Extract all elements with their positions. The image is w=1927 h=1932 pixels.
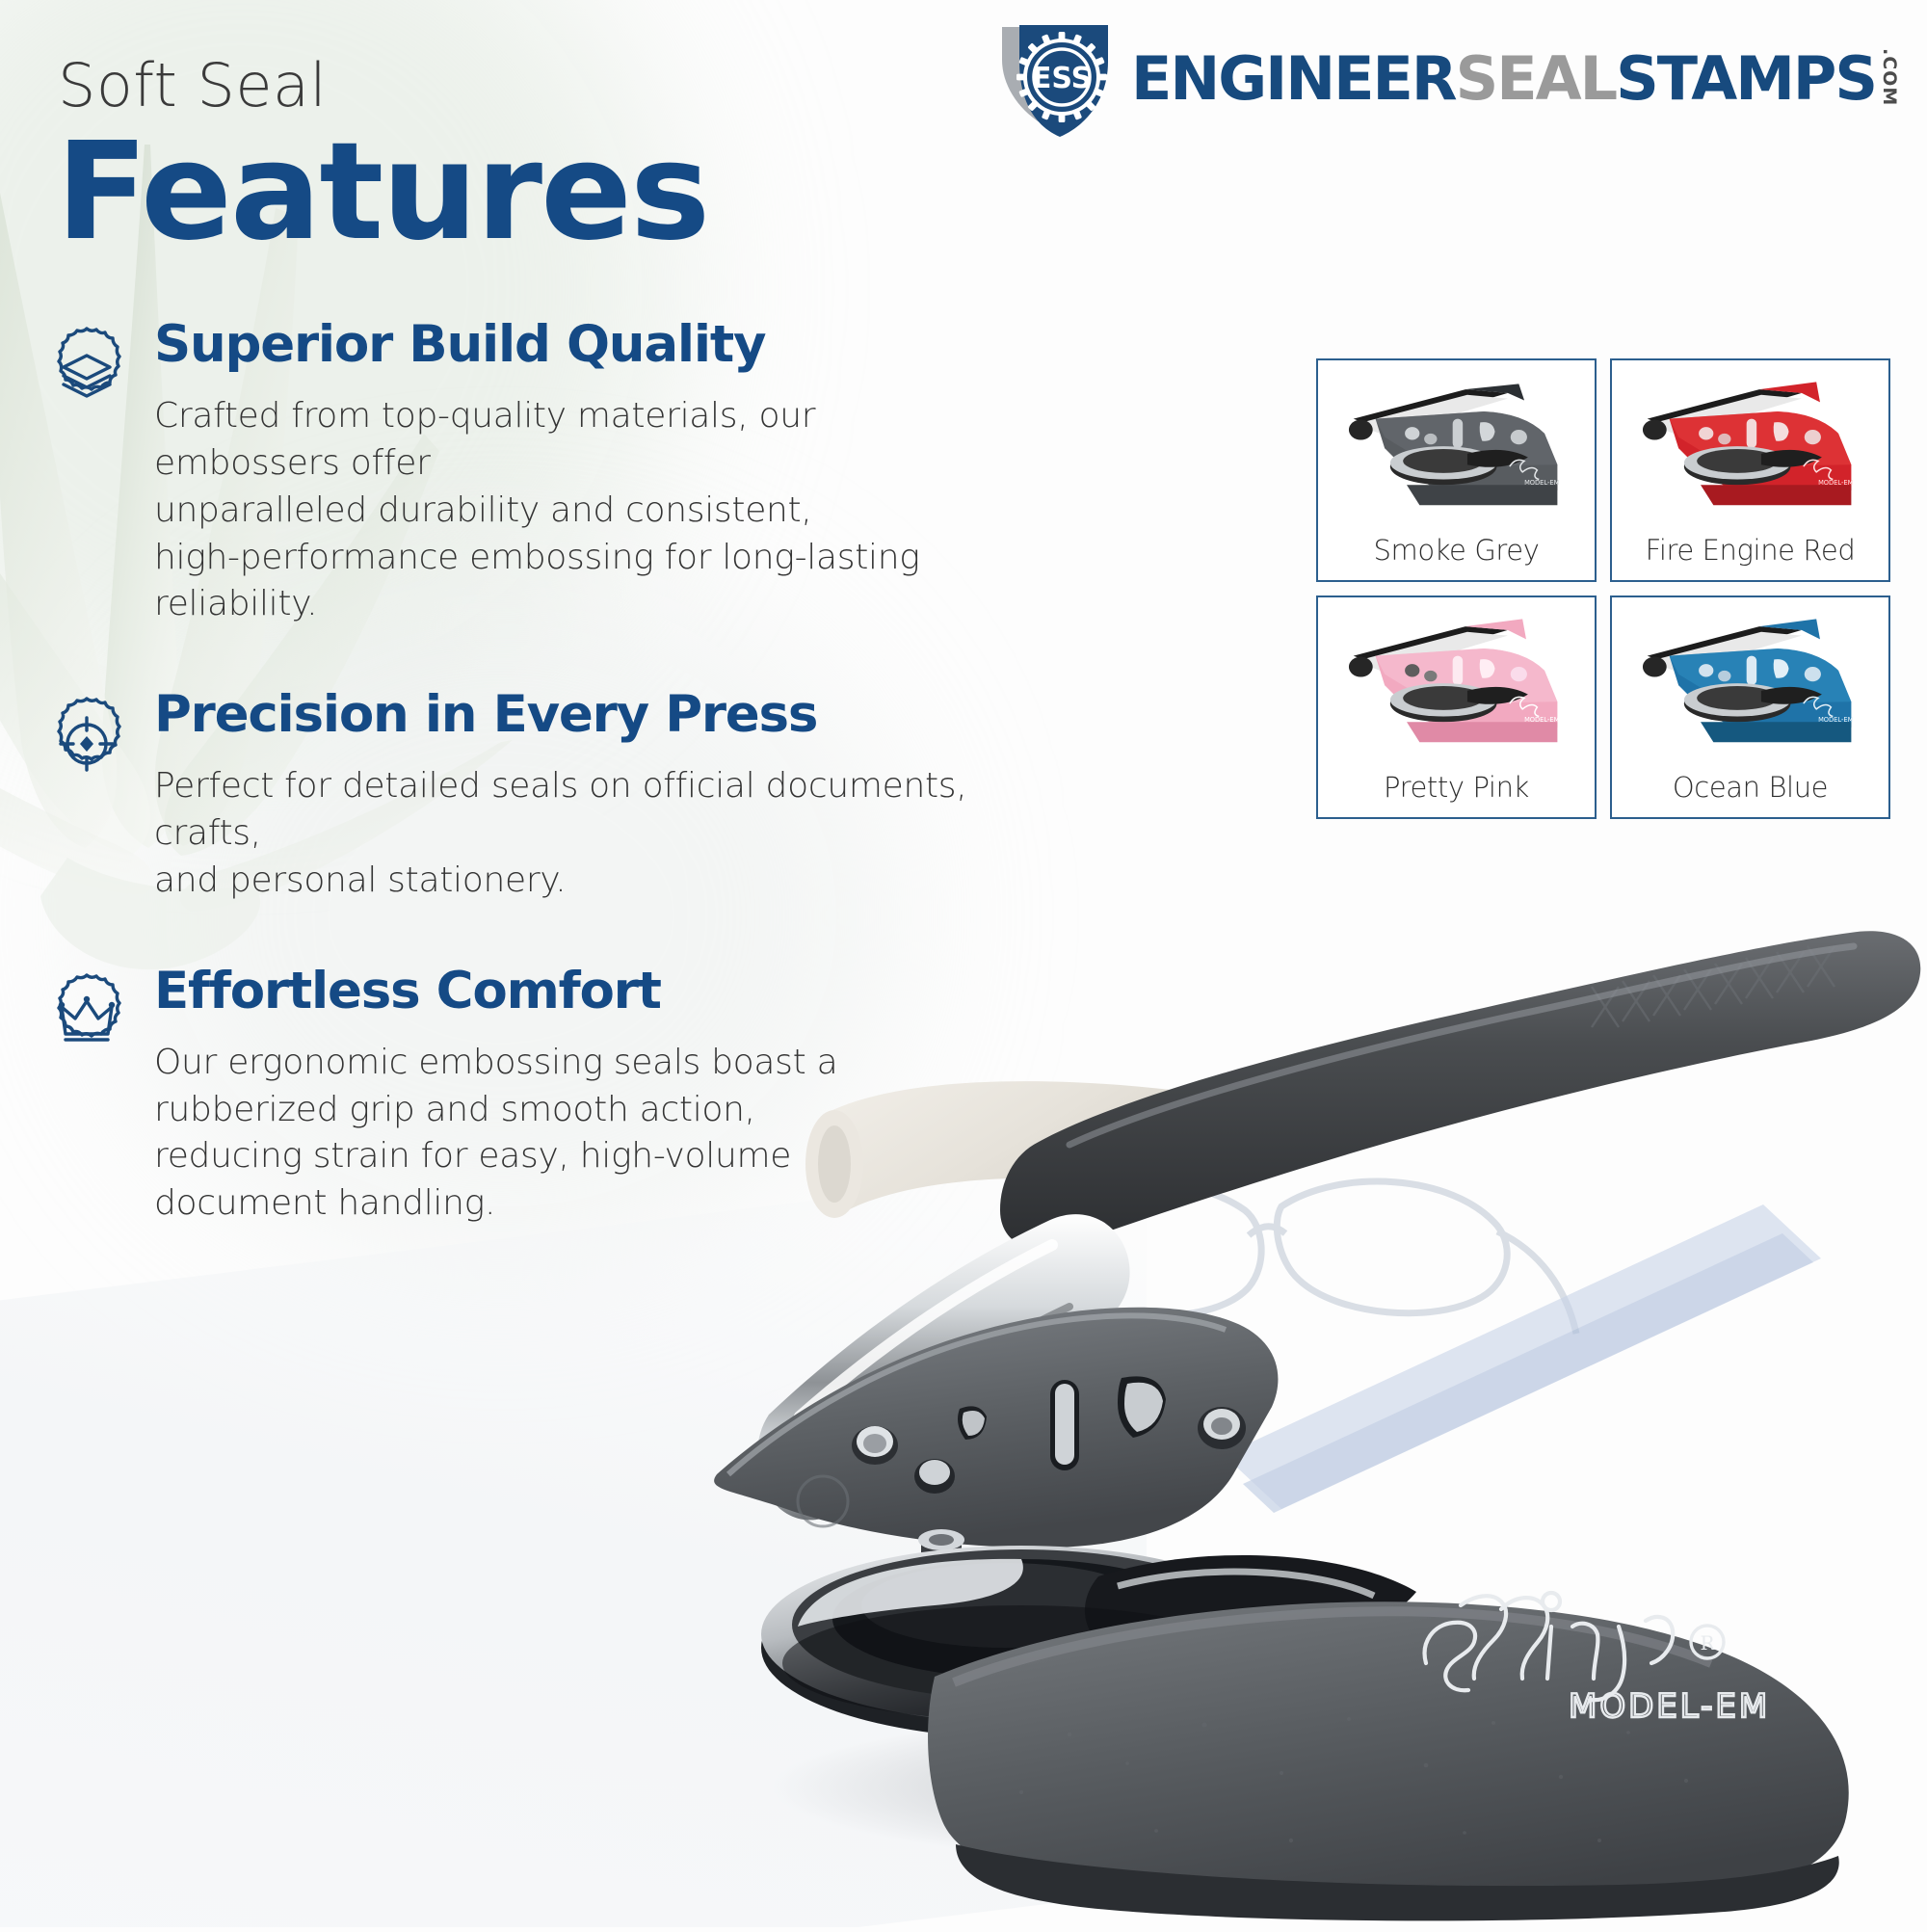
- svg-text:MODEL-EM: MODEL-EM: [1524, 479, 1560, 487]
- swatch-fire-engine-red[interactable]: MODEL-EM Fire Engine Red: [1610, 358, 1890, 582]
- page-header: Soft Seal Features: [0, 0, 1927, 289]
- feature-body: Perfect for detailed seals on official d…: [154, 763, 1002, 905]
- svg-text:R: R: [1700, 1631, 1715, 1654]
- embosser-photo-ocean-blue: MODEL-EM: [1622, 607, 1879, 767]
- logo-dotcom-suffix: .COM: [1879, 48, 1900, 110]
- ess-gear-badge-icon: ESS: [994, 17, 1118, 141]
- swatch-pretty-pink[interactable]: MODEL-EM Pretty Pink: [1316, 595, 1597, 819]
- embosser-photo-smoke-grey: MODEL-EM: [1328, 370, 1585, 530]
- feature-body: Crafted from top-quality materials, our …: [154, 393, 1002, 629]
- svg-text:MODEL-EM: MODEL-EM: [1818, 479, 1854, 487]
- embosser-upper-arm: [714, 1308, 1278, 1548]
- swatch-smoke-grey[interactable]: MODEL-EM Smoke Grey: [1316, 358, 1597, 582]
- page-kicker: Soft Seal: [58, 50, 327, 120]
- color-variant-grid: MODEL-EM Smoke Grey: [1316, 358, 1890, 819]
- brand-logo-wordmark: ENGINEER SEAL STAMPS .COM: [1131, 48, 1900, 110]
- svg-text:MODEL-EM: MODEL-EM: [1524, 716, 1560, 724]
- brand-logo[interactable]: ESS ENGINEER SEAL STAMPS .COM: [994, 17, 1900, 141]
- swatch-label: Pretty Pink: [1328, 767, 1585, 811]
- page-title: Features: [56, 125, 708, 260]
- embosser-photo-pretty-pink: MODEL-EM: [1328, 607, 1585, 767]
- logo-word-engineer: ENGINEER: [1131, 49, 1456, 109]
- swatch-label: Smoke Grey: [1328, 530, 1585, 574]
- feature-body: Our ergonomic embossing seals boast a ru…: [154, 1040, 1002, 1229]
- embosser-photo-fire-engine-red: MODEL-EM: [1622, 370, 1879, 530]
- feature-item-precision: Precision in Every Press Perfect for det…: [0, 688, 1041, 905]
- svg-text:MODEL-EM: MODEL-EM: [1569, 1687, 1770, 1726]
- feature-title: Effortless Comfort: [154, 965, 1041, 1019]
- logo-word-seal: SEAL: [1456, 49, 1617, 109]
- target-badge-icon: [37, 694, 137, 794]
- svg-text:ESS: ESS: [1032, 62, 1092, 95]
- swatch-ocean-blue[interactable]: MODEL-EM Ocean Blue: [1610, 595, 1890, 819]
- crown-badge-icon: [37, 970, 137, 1071]
- svg-text:MODEL-EM: MODEL-EM: [1818, 716, 1854, 724]
- swatch-label: Fire Engine Red: [1622, 530, 1879, 574]
- feature-list: Superior Build Quality Crafted from top-…: [0, 318, 1041, 1287]
- layers-badge-icon: [37, 324, 137, 424]
- feature-item-comfort: Effortless Comfort Our ergonomic embossi…: [0, 965, 1041, 1228]
- feature-title: Precision in Every Press: [154, 688, 1041, 742]
- embosser-handle: [1000, 931, 1920, 1250]
- logo-word-stamps: STAMPS: [1616, 49, 1876, 109]
- feature-item-build-quality: Superior Build Quality Crafted from top-…: [0, 318, 1041, 628]
- swatch-label: Ocean Blue: [1622, 767, 1879, 811]
- feature-title: Superior Build Quality: [154, 318, 1041, 372]
